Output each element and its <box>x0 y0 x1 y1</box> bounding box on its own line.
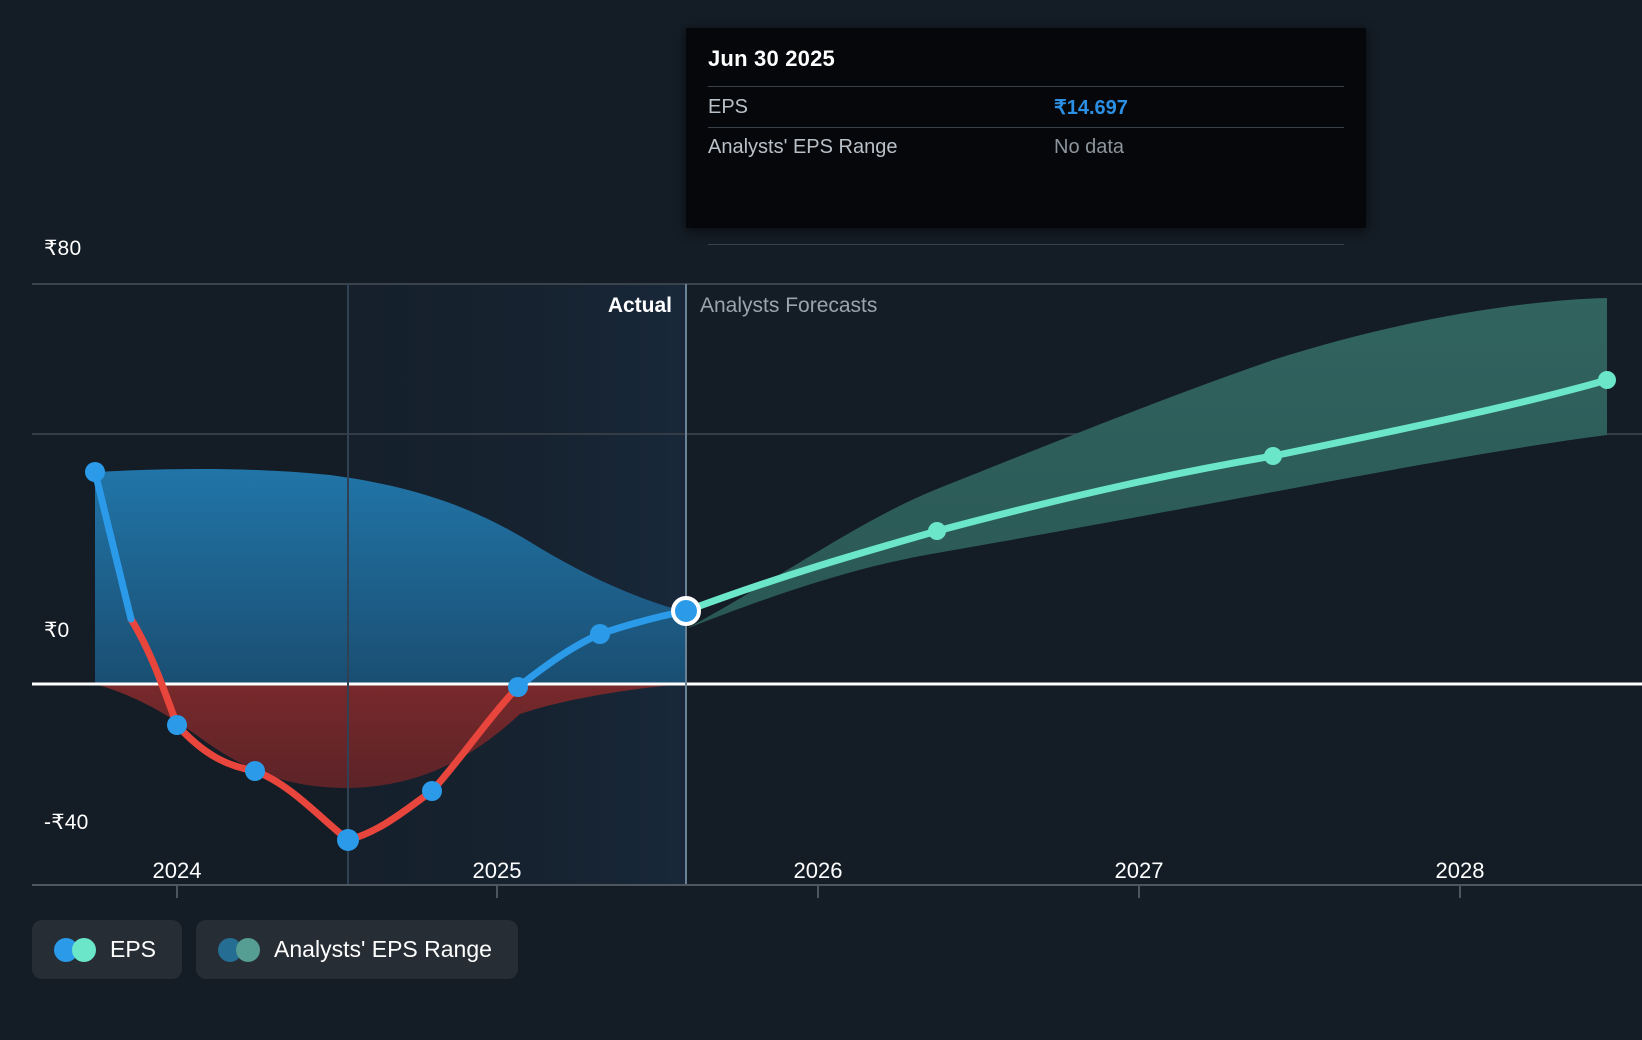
legend-item-analysts-eps-range[interactable]: Analysts' EPS Range <box>196 920 518 979</box>
data-point-marker[interactable] <box>928 522 946 540</box>
legend-swatch-eps-icon <box>54 938 96 962</box>
data-point-marker[interactable] <box>508 677 528 697</box>
tooltip-spacer <box>708 166 1344 234</box>
x-axis-label-2026: 2026 <box>794 858 843 884</box>
highlighted-data-point[interactable] <box>673 598 699 624</box>
eps-chart-widget: ₹80 ₹0 -₹40 2024 2025 2026 2027 2028 Act… <box>0 0 1642 1040</box>
tooltip-row-range: Analysts' EPS Range No data <box>708 127 1344 166</box>
data-point-marker[interactable] <box>85 462 105 482</box>
y-axis-label-neg40: -₹40 <box>44 810 89 835</box>
chart-legend: EPS Analysts' EPS Range <box>32 920 518 979</box>
x-axis-label-2027: 2027 <box>1115 858 1164 884</box>
legend-swatch-range-icon <box>218 938 260 962</box>
y-axis-label-80: ₹80 <box>44 236 81 261</box>
period-label-actual: Actual <box>608 294 672 318</box>
period-label-forecast: Analysts Forecasts <box>700 294 877 318</box>
data-point-marker[interactable] <box>245 761 265 781</box>
x-axis-label-2025: 2025 <box>473 858 522 884</box>
tooltip-title: Jun 30 2025 <box>708 46 1344 86</box>
legend-label-eps: EPS <box>110 936 156 963</box>
data-point-marker[interactable] <box>1264 447 1282 465</box>
x-axis-label-2028: 2028 <box>1436 858 1485 884</box>
data-point-marker[interactable] <box>167 715 187 735</box>
tooltip-key-range: Analysts' EPS Range <box>708 136 897 159</box>
forecast-range-band <box>686 298 1607 629</box>
data-point-marker[interactable] <box>422 781 442 801</box>
tooltip-value-eps: ₹14.697 <box>1054 95 1344 120</box>
legend-item-eps[interactable]: EPS <box>32 920 182 979</box>
legend-label-analysts-eps-range: Analysts' EPS Range <box>274 936 492 963</box>
data-point-marker[interactable] <box>1598 371 1616 389</box>
y-axis-label-0: ₹0 <box>44 618 69 643</box>
x-axis-label-2024: 2024 <box>153 858 202 884</box>
chart-tooltip: Jun 30 2025 EPS ₹14.697 Analysts' EPS Ra… <box>686 28 1366 228</box>
tooltip-key-eps: EPS <box>708 96 748 119</box>
data-point-marker[interactable] <box>590 624 610 644</box>
tooltip-value-range: No data <box>1054 136 1344 159</box>
data-point-marker[interactable] <box>337 829 359 851</box>
tooltip-bottom-divider <box>708 244 1344 245</box>
tooltip-row-eps: EPS ₹14.697 <box>708 86 1344 127</box>
